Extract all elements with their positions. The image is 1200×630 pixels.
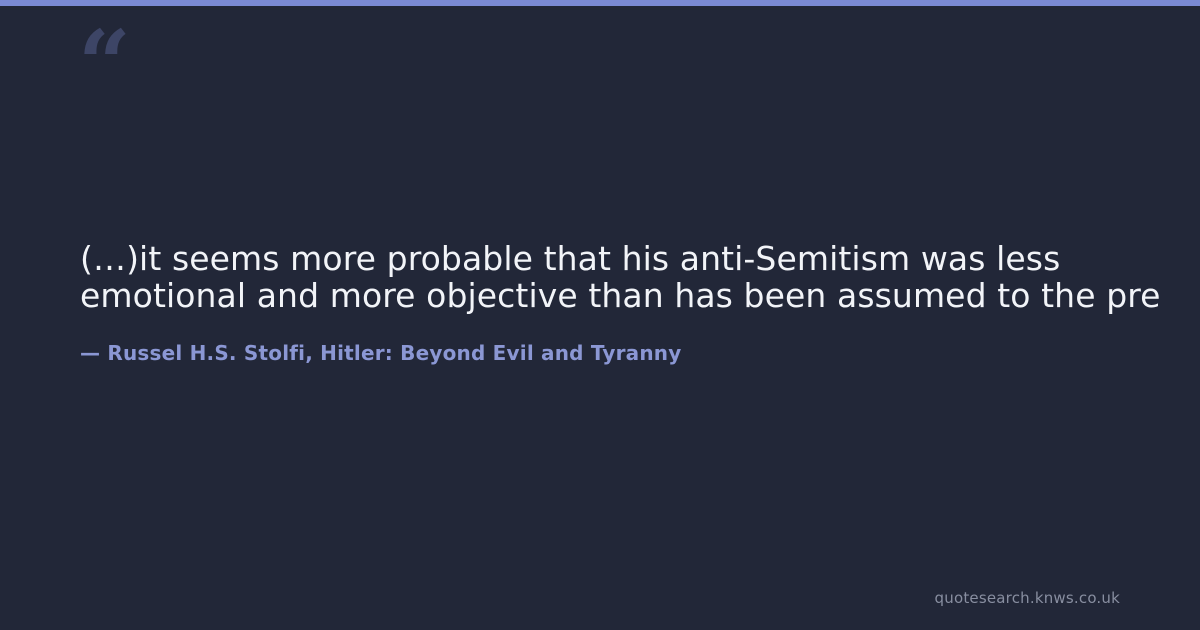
quote-line-2: emotional and more objective than has be…: [80, 277, 1140, 314]
top-accent-bar: [0, 0, 1200, 6]
quote-card: “ (…)it seems more probable that his ant…: [0, 0, 1200, 630]
quote-attribution: — Russel H.S. Stolfi, Hitler: Beyond Evi…: [80, 340, 681, 366]
quotation-mark-icon: “: [78, 18, 129, 110]
site-watermark: quotesearch.knws.co.uk: [935, 588, 1120, 608]
quote-body: (…)it seems more probable that his anti-…: [80, 240, 1140, 314]
quote-line-1: (…)it seems more probable that his anti-…: [80, 240, 1140, 277]
